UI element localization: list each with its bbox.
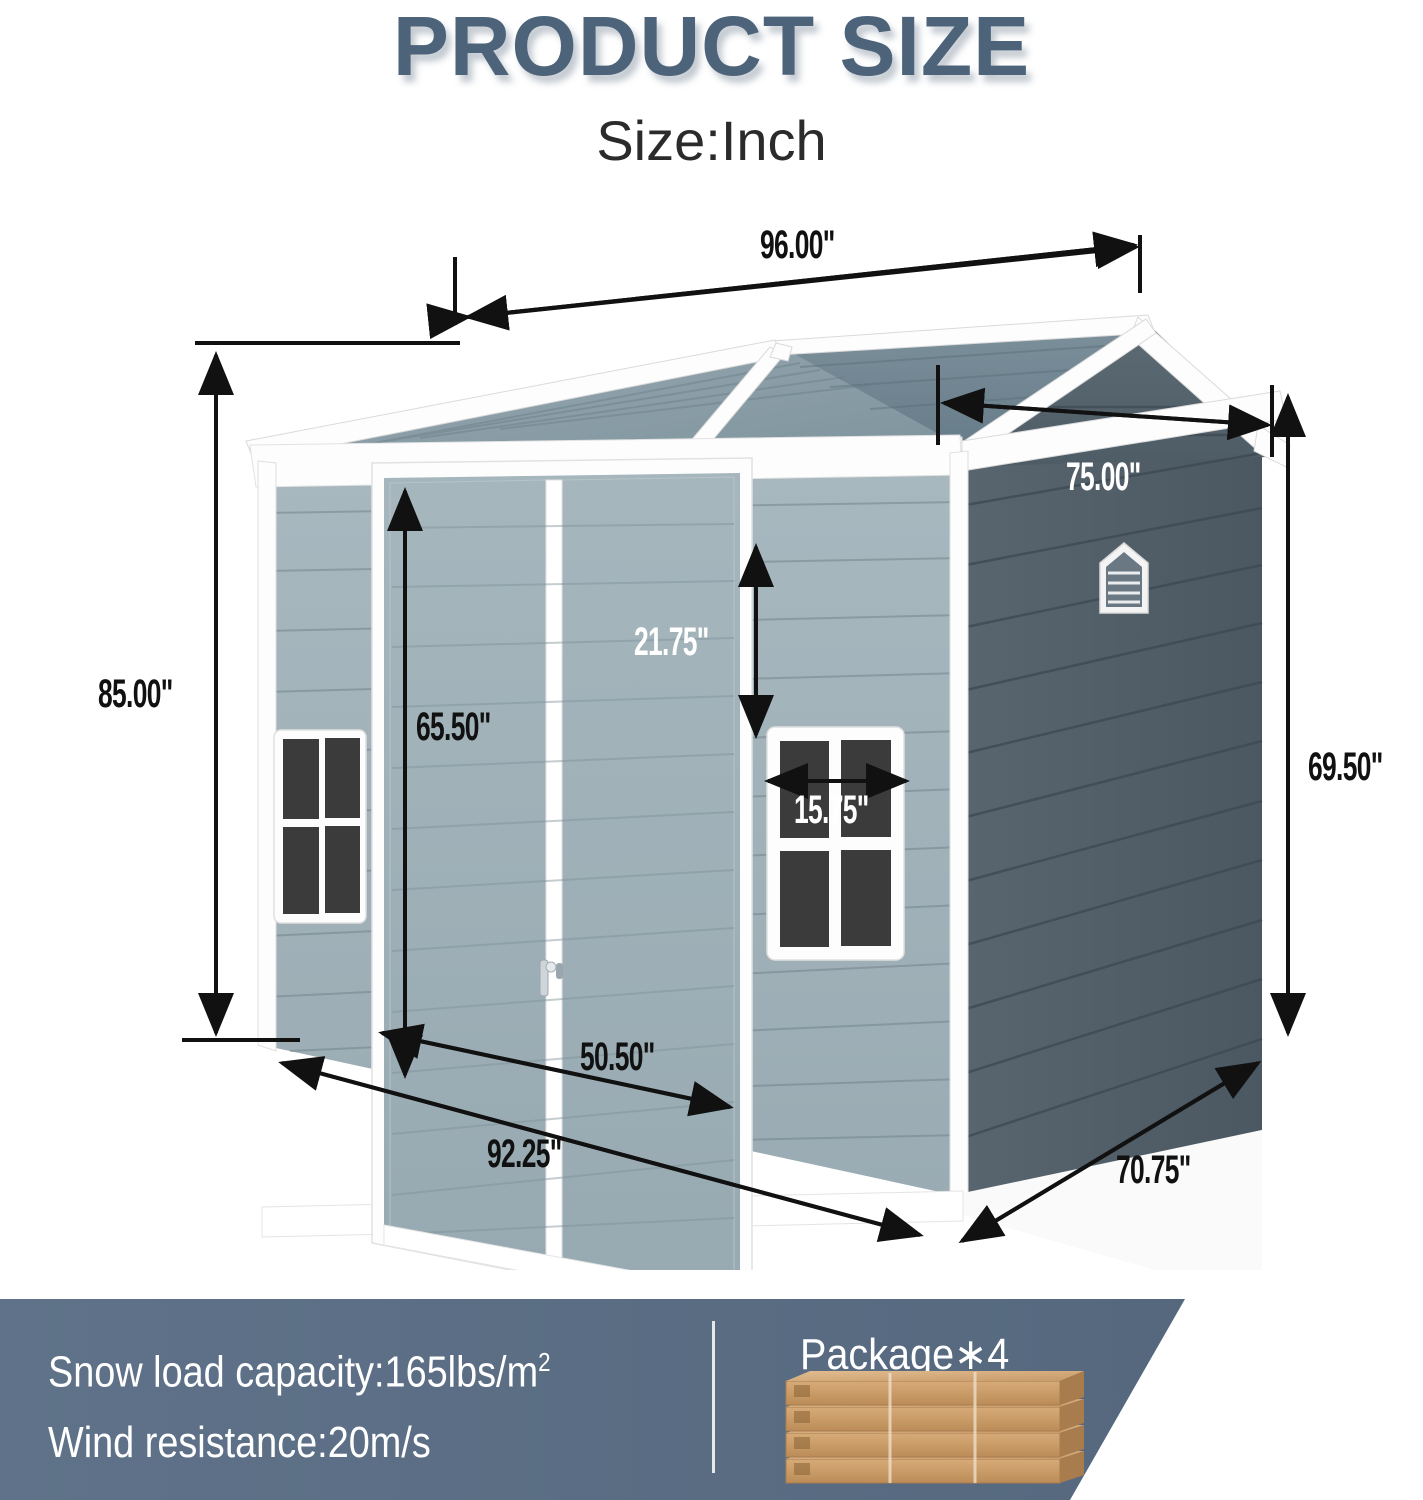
window-left bbox=[274, 730, 366, 923]
dim-label-base-width: 92.25" bbox=[487, 1132, 562, 1177]
dim-label-overall-height: 85.00" bbox=[98, 672, 173, 717]
dim-label-base-depth: 70.75" bbox=[1116, 1148, 1191, 1193]
shed-diagram: 96.00" 85.00" 75.00" 69.50" 65.50" 21.75… bbox=[0, 195, 1423, 1270]
side-wall bbox=[963, 395, 1262, 1195]
info-panel: Snow load capacity:165lbs/m2 Wind resist… bbox=[0, 1285, 1423, 1500]
snow-load-text: Snow load capacity:165lbs/m2 bbox=[48, 1347, 551, 1398]
dim-label-wall-height: 69.50" bbox=[1308, 745, 1383, 790]
panel-divider bbox=[712, 1321, 715, 1473]
page-subtitle: Size:Inch bbox=[0, 108, 1423, 173]
dim-label-gable-width: 75.00" bbox=[1066, 455, 1141, 500]
double-door[interactable] bbox=[372, 458, 752, 1270]
shed-illustration bbox=[0, 195, 1423, 1270]
dim-label-door-width: 50.50" bbox=[580, 1035, 655, 1080]
snow-load-unit-sup: 2 bbox=[538, 1347, 550, 1377]
window-right bbox=[767, 727, 904, 960]
page-header: PRODUCT SIZE Size:Inch bbox=[0, 0, 1423, 195]
dim-label-roof-width: 96.00" bbox=[760, 223, 835, 268]
snow-load-label: Snow load capacity:165lbs/m bbox=[48, 1348, 538, 1397]
corner-post bbox=[950, 451, 968, 1201]
package-stack-icon bbox=[770, 1363, 1130, 1493]
page-title: PRODUCT SIZE bbox=[0, 0, 1423, 95]
dim-label-window-height: 21.75" bbox=[634, 620, 709, 665]
wind-resistance-text: Wind resistance:20m/s bbox=[48, 1418, 431, 1468]
dim-label-window-width: 15.75" bbox=[794, 788, 869, 833]
dim-label-door-height: 65.50" bbox=[416, 705, 491, 750]
